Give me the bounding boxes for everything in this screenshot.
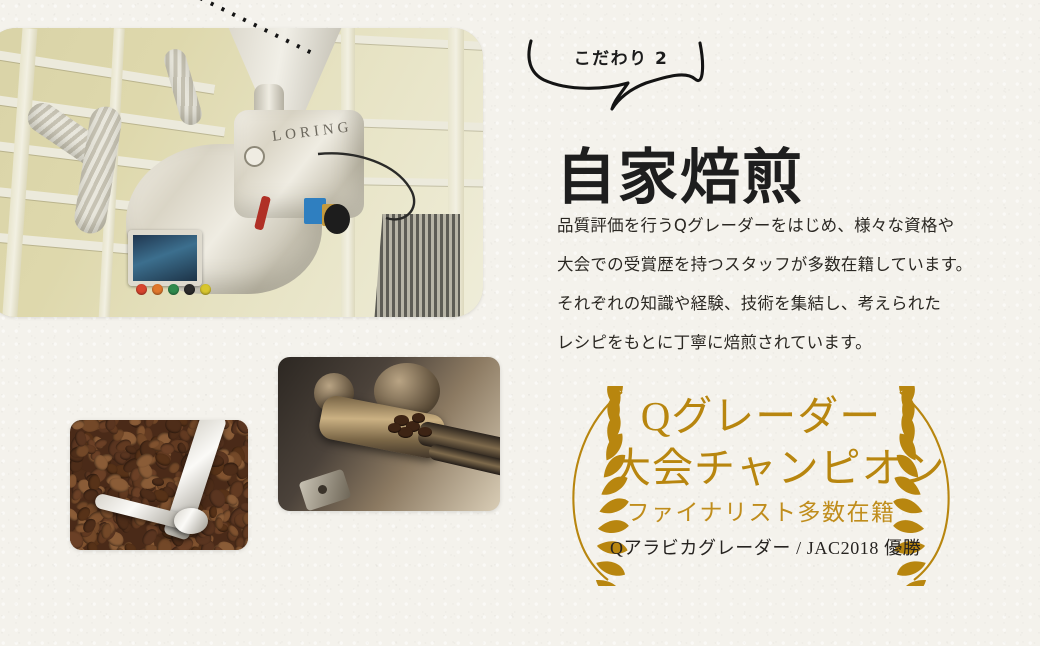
dotted-connector-line xyxy=(196,0,356,56)
award-line-2: 大会チャンピオン xyxy=(610,442,912,494)
award-badge: Qグレーダー 大会チャンピオン ファイナリスト多数在籍 Qアラビカグレーダー /… xyxy=(556,386,966,586)
body-line-1: 品質評価を行うQグレーダーをはじめ、様々な資格や xyxy=(557,206,1007,245)
body-line-2: 大会での受賞歴を持つスタッフが多数在籍しています。 xyxy=(557,245,1007,284)
award-line-4: Qアラビカグレーダー / JAC2018 優勝 xyxy=(610,532,912,564)
award-line-3: ファイナリスト多数在籍 xyxy=(610,494,912,532)
section-title: 自家焙煎 xyxy=(556,148,804,208)
body-line-4: レシピをもとに丁寧に焙煎されています。 xyxy=(557,323,1007,362)
eyebrow-label: こだわり 2 xyxy=(556,44,686,69)
photo-coffee-beans xyxy=(70,420,248,550)
photo-roaster-trier xyxy=(278,357,500,511)
body-line-3: それぞれの知識や経験、技術を集結し、考えられた xyxy=(557,284,1007,323)
photo-roaster-machine: LORING xyxy=(0,28,483,317)
body-copy: 品質評価を行うQグレーダーをはじめ、様々な資格や 大会での受賞歴を持つスタッフが… xyxy=(557,206,1007,362)
award-line-1: Qグレーダー xyxy=(610,386,912,442)
